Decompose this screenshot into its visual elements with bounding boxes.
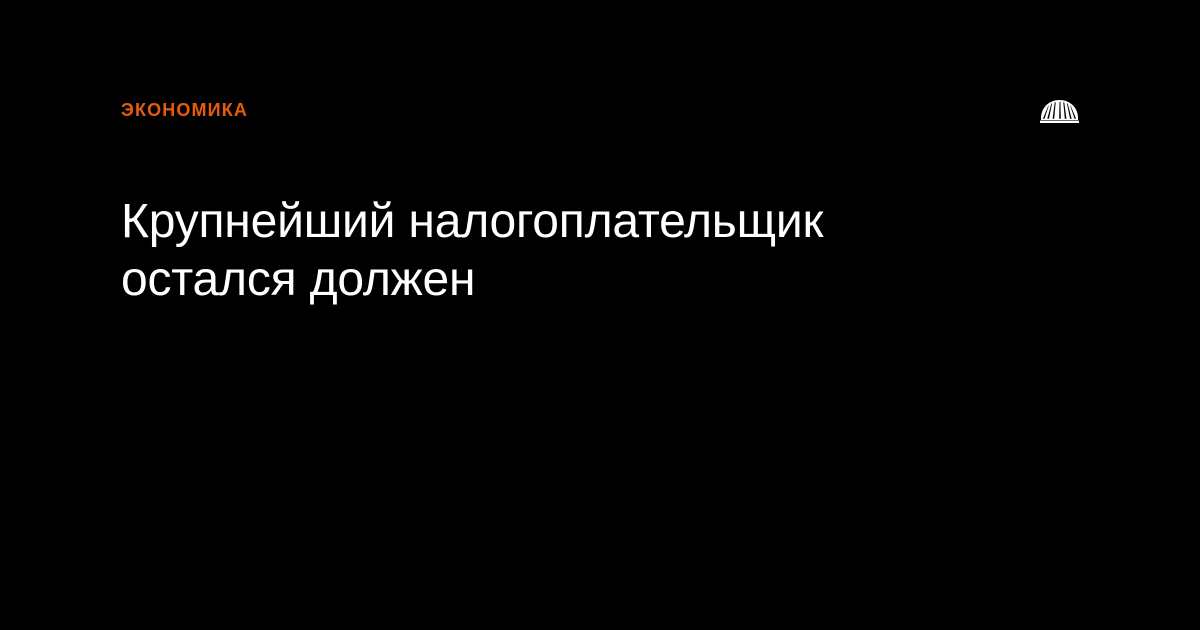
social-share-card: ЭКОНОМИКА Крупнейший	[0, 0, 1200, 630]
category-label[interactable]: ЭКОНОМИКА	[121, 99, 248, 121]
page-title: Крупнейший налогоплательщик остался долж…	[121, 193, 861, 309]
kommersant-sunburst-logo-icon	[1040, 98, 1079, 125]
card-header: ЭКОНОМИКА	[121, 96, 1079, 124]
brand-logo[interactable]	[1040, 96, 1079, 125]
